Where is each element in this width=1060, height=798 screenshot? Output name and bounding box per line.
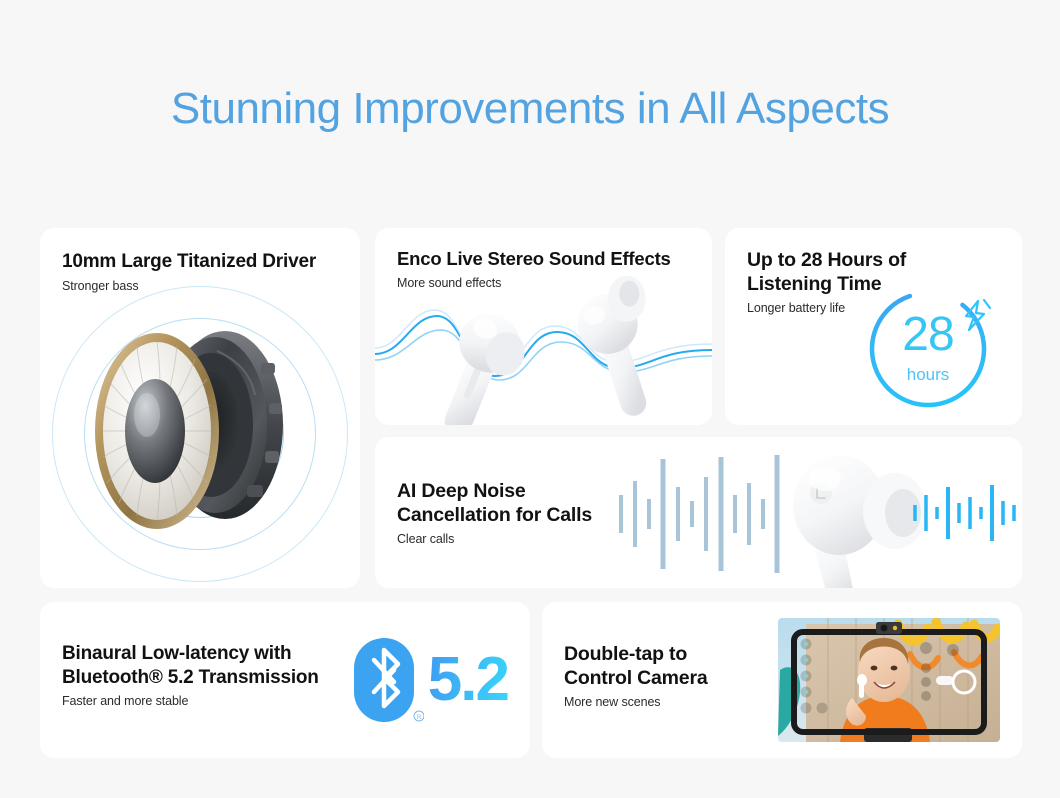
card-anc-title: AI Deep Noise Cancellation for Calls xyxy=(397,479,592,527)
card-stereo-title: Enco Live Stereo Sound Effects xyxy=(397,248,671,271)
feature-card-driver: 10mm Large Titanized Driver Stronger bas… xyxy=(40,228,360,588)
page-title: Stunning Improvements in All Aspects xyxy=(0,84,1060,134)
card-camera-text: Double-tap to Control Camera More new sc… xyxy=(564,642,707,709)
card-stereo-subtitle: More sound effects xyxy=(397,276,671,290)
card-bluetooth-text: Binaural Low-latency with Bluetooth® 5.2… xyxy=(62,642,319,708)
card-bluetooth-subtitle: Faster and more stable xyxy=(62,694,319,708)
card-camera-title: Double-tap to Control Camera xyxy=(564,642,707,690)
card-battery-subtitle: Longer battery life xyxy=(747,301,906,315)
bluetooth-icon: R xyxy=(352,634,424,726)
card-driver-subtitle: Stronger bass xyxy=(62,279,316,293)
battery-gauge-unit: hours xyxy=(860,365,996,385)
card-driver-text: 10mm Large Titanized Driver Stronger bas… xyxy=(62,250,316,293)
card-battery-text: Up to 28 Hours of Listening Time Longer … xyxy=(747,248,906,315)
feature-card-camera: Double-tap to Control Camera More new sc… xyxy=(542,602,1022,758)
phone-selfie-preview-image xyxy=(778,618,1000,742)
feature-card-noise-cancellation: AI Deep Noise Cancellation for Calls Cle… xyxy=(375,437,1022,588)
card-bluetooth-title: Binaural Low-latency with Bluetooth® 5.2… xyxy=(62,642,319,689)
card-stereo-text: Enco Live Stereo Sound Effects More soun… xyxy=(397,248,671,290)
card-driver-title: 10mm Large Titanized Driver xyxy=(62,250,316,274)
card-battery-title: Up to 28 Hours of Listening Time xyxy=(747,248,906,296)
bluetooth-art: R 5.2 xyxy=(352,634,508,726)
feature-card-stereo: Enco Live Stereo Sound Effects More soun… xyxy=(375,228,712,425)
card-anc-text: AI Deep Noise Cancellation for Calls Cle… xyxy=(397,479,592,546)
card-camera-subtitle: More new scenes xyxy=(564,695,707,709)
earbuds-soundwave-image xyxy=(375,276,712,425)
speaker-driver-image xyxy=(75,319,325,549)
bluetooth-version: 5.2 xyxy=(428,649,508,711)
feature-card-bluetooth: R 5.2 Binaural Low-latency with Bluetoot… xyxy=(40,602,530,758)
feature-card-battery: 28 hours Up to 28 Hours of Listening Tim… xyxy=(725,228,1022,425)
noise-cancellation-image xyxy=(615,437,1022,588)
svg-text:R: R xyxy=(417,715,422,721)
sound-rings-decoration xyxy=(40,280,360,588)
card-anc-subtitle: Clear calls xyxy=(397,532,592,546)
